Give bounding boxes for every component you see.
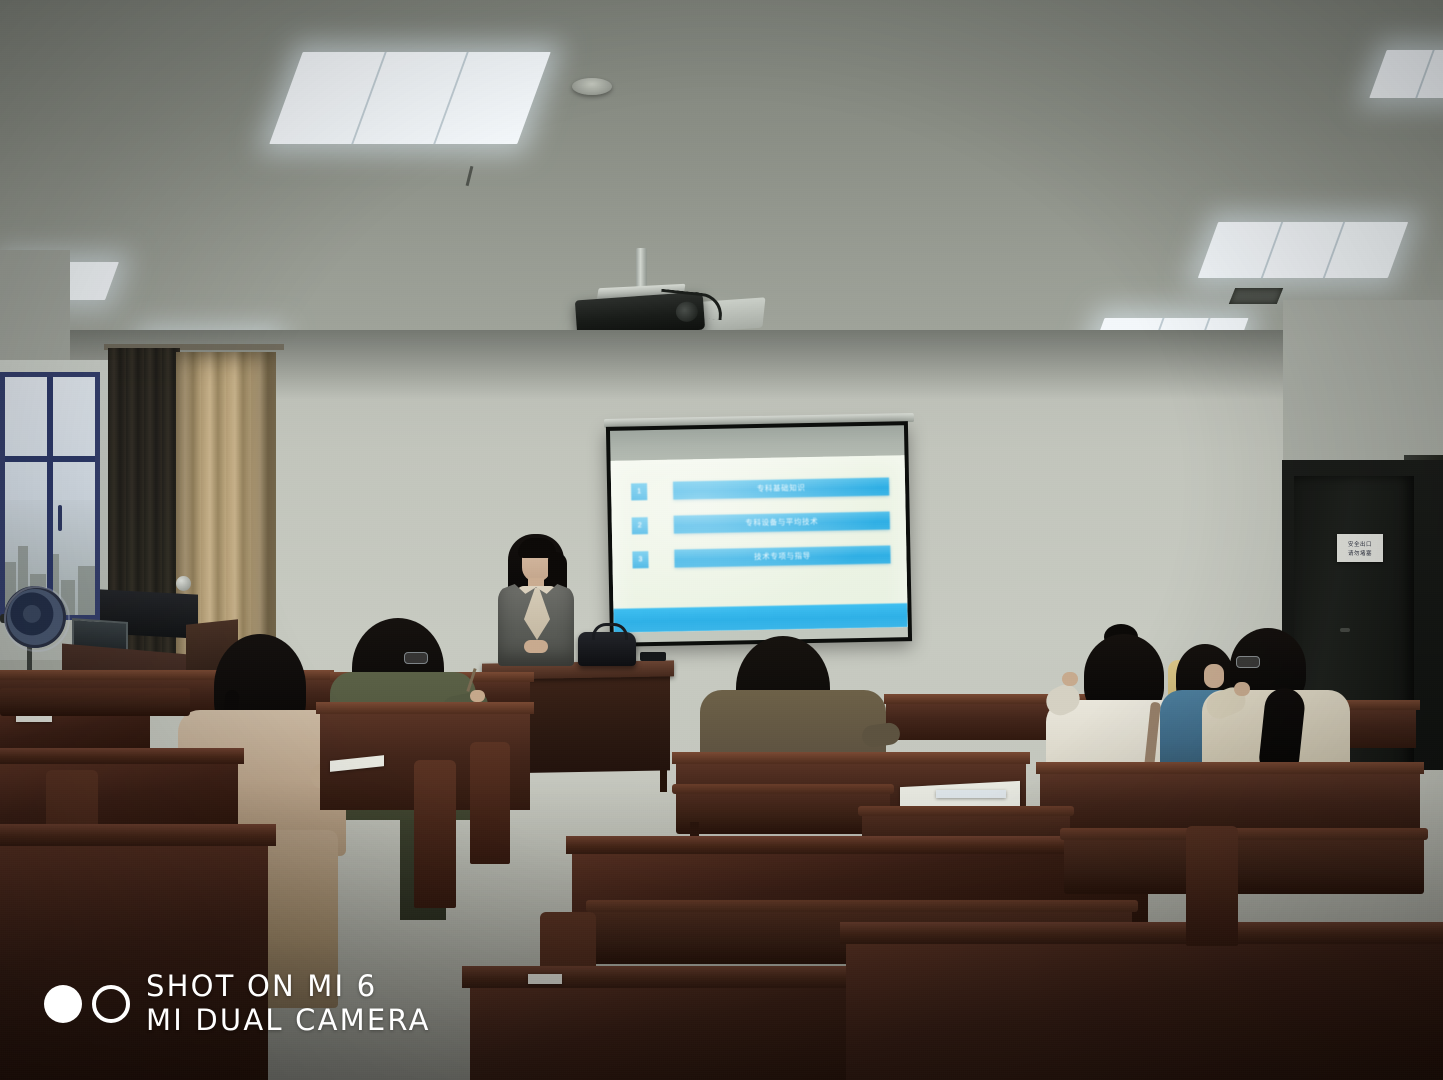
projector-mount-pole	[636, 248, 647, 290]
door-sign-line1: 安全出口	[1348, 540, 1372, 548]
slide-agenda-row: 3 技术专项与指导	[632, 545, 890, 568]
photograph-classroom-training: 1 专科基础知识 2 专科设备与平均技术 3 技术专项与指导	[0, 0, 1443, 1080]
bench-cap	[586, 900, 1138, 912]
smoke-detector-icon	[572, 78, 612, 95]
presenter-desk-leg	[660, 770, 667, 792]
projected-slide: 1 专科基础知识 2 专科设备与平均技术 3 技术专项与指导	[611, 455, 908, 633]
ceiling-light-panel	[269, 52, 550, 144]
slide-agenda-row: 1 专科基础知识	[631, 477, 889, 500]
slide-row-label: 专科基础知识	[673, 477, 889, 499]
door-sign: 安全出口 请勿堵塞	[1337, 534, 1383, 562]
desk-top-foreground	[840, 922, 1443, 944]
glasses-icon	[404, 652, 428, 664]
bench-far-left-row[interactable]	[0, 688, 190, 716]
presenter-bag	[578, 632, 636, 666]
slide-row-label: 专科设备与平均技术	[674, 511, 890, 533]
paper-on-desk	[936, 790, 1006, 798]
window-handle[interactable]	[58, 505, 62, 531]
bench-cap	[672, 784, 894, 794]
air-vent	[1229, 288, 1283, 304]
desk-foreground-bottom-left	[0, 838, 268, 1080]
av-knob-icon[interactable]	[176, 576, 191, 591]
desk-foreground-bottom-center	[470, 980, 890, 1080]
door-sign-line2: 请勿堵塞	[1348, 549, 1372, 557]
bag-handle-icon	[592, 623, 628, 640]
door-handle[interactable]	[1340, 628, 1350, 632]
bench-end-panel	[414, 760, 456, 908]
attendee-hand	[470, 690, 485, 702]
slide-agenda-list: 1 专科基础知识 2 专科设备与平均技术 3 技术专项与指导	[631, 477, 891, 584]
desk-top	[1036, 762, 1424, 774]
ceiling-wire	[466, 166, 474, 186]
slide-row-number: 1	[631, 483, 647, 500]
window-frame	[0, 372, 100, 620]
bench-end-panel	[470, 742, 510, 864]
fan-guard-icon	[4, 586, 70, 652]
paper-on-desk	[528, 974, 562, 984]
desk-top	[672, 752, 1030, 764]
slide-row-number: 2	[632, 517, 648, 534]
desk-top	[316, 702, 534, 714]
desk-top-foreground	[0, 824, 276, 846]
ceiling-light-panel	[1198, 222, 1408, 278]
slide-row-label: 技术专项与指导	[674, 545, 890, 567]
attendee-face	[1204, 664, 1224, 688]
presenter-hands	[524, 640, 548, 653]
projection-screen: 1 专科基础知识 2 专科设备与平均技术 3 技术专项与指导	[606, 421, 912, 647]
slide-row-number: 3	[632, 551, 648, 568]
bench-end-panel	[1186, 826, 1238, 946]
desk-foreground-bottom-right	[846, 936, 1443, 1080]
desk-top-foreground	[0, 748, 244, 764]
desk-device	[640, 652, 666, 661]
bench-right-row[interactable]	[1064, 836, 1424, 894]
bench-cap	[858, 806, 1074, 816]
ceiling-light-panel	[1369, 50, 1443, 98]
glasses-icon	[1236, 656, 1260, 668]
slide-agenda-row: 2 专科设备与平均技术	[632, 511, 890, 534]
bench-cap	[1060, 828, 1428, 840]
attendee-hand	[1062, 672, 1078, 686]
attendee-hand	[1234, 682, 1250, 696]
